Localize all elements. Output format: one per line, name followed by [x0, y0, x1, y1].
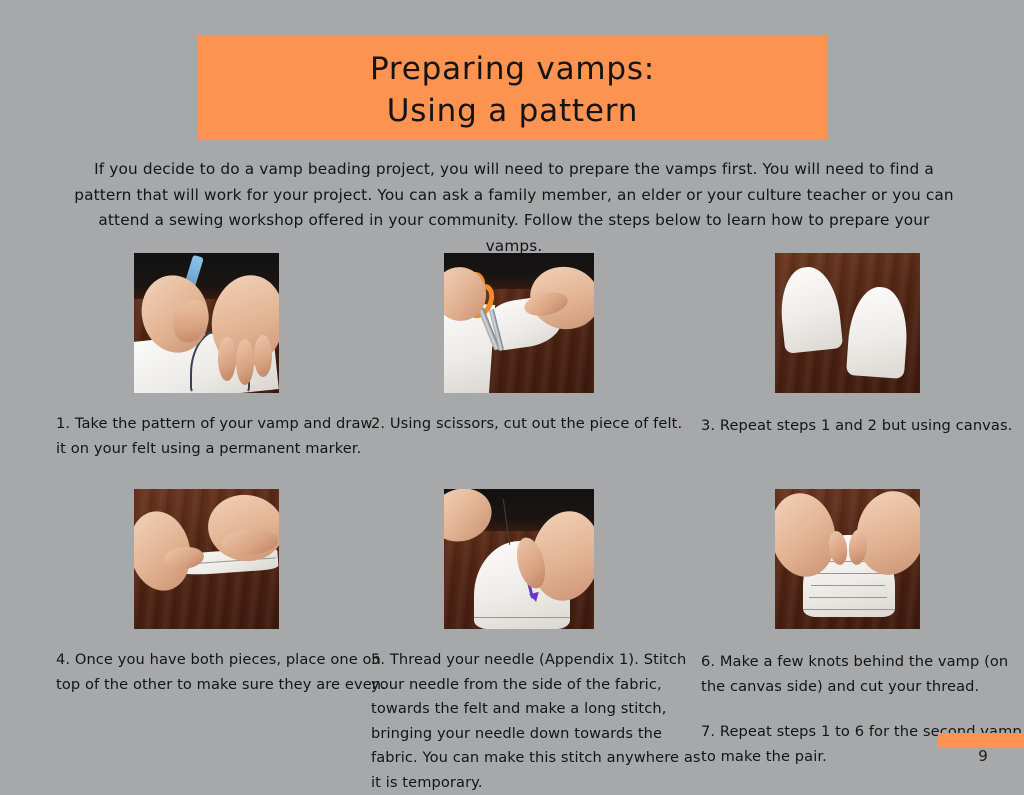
stitch-row-icon: [811, 585, 885, 586]
step-caption-4: 4. Once you have both pieces, place one …: [56, 648, 386, 697]
step-caption-6: 6. Make a few knots behind the vamp (on …: [701, 650, 1024, 699]
stitch-row-icon: [809, 597, 887, 598]
stitch-row-icon: [813, 573, 883, 574]
step-item-3: 3. Repeat steps 1 and 2 but using canvas…: [701, 253, 1024, 439]
step-photo-6: [775, 489, 920, 629]
step-item-4: 4. Once you have both pieces, place one …: [56, 489, 386, 697]
step-caption-3: 3. Repeat steps 1 and 2 but using canvas…: [701, 414, 1024, 439]
step-photo-4: [134, 489, 279, 629]
step-caption-5: 5. Thread your needle (Appendix 1). Stit…: [371, 648, 701, 795]
step-photo-1: [134, 253, 279, 393]
vamp-base-line-icon: [474, 617, 570, 618]
step-caption-2: 2. Using scissors, cut out the piece of …: [371, 412, 701, 437]
fingers-right-icon: [218, 337, 236, 381]
page-number: 9: [960, 747, 1006, 765]
steps-grid: 1. Take the pattern of your vamp and dra…: [0, 0, 1024, 791]
fingers-right-3-icon: [254, 335, 272, 377]
step-item-1: 1. Take the pattern of your vamp and dra…: [56, 253, 386, 461]
step-photo-5: [444, 489, 594, 629]
step-photo-2: [444, 253, 594, 393]
vamp-base-line-icon: [803, 609, 895, 610]
step-item-5: 5. Thread your needle (Appendix 1). Stit…: [371, 489, 701, 795]
footer-accent-bar: [938, 733, 1024, 748]
fingers-right-2-icon: [236, 339, 254, 385]
step-item-6: 6. Make a few knots behind the vamp (on …: [701, 489, 1024, 769]
step-photo-3: [775, 253, 920, 393]
step-caption-1: 1. Take the pattern of your vamp and dra…: [56, 412, 386, 461]
step-item-2: 2. Using scissors, cut out the piece of …: [371, 253, 701, 437]
